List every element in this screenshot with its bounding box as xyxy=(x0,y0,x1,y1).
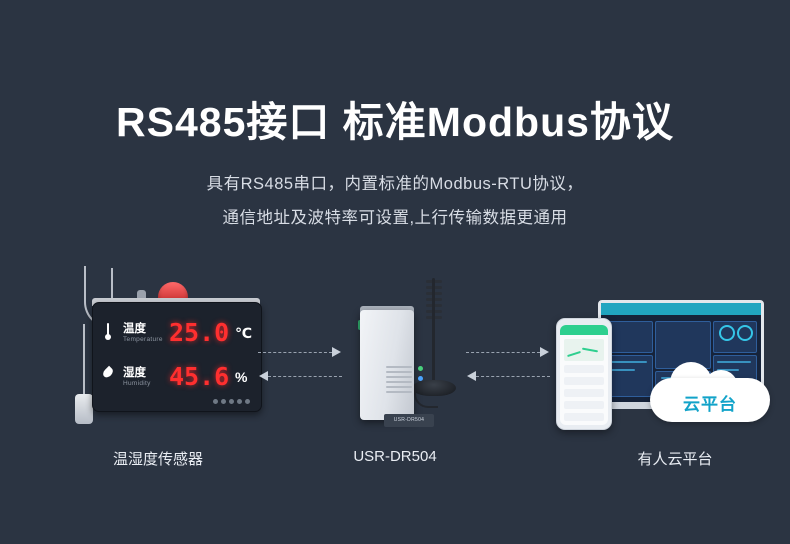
dashboard-gauge xyxy=(719,325,735,341)
subtitle-line-2: 通信地址及波特率可设置,上行传输数据更通用 xyxy=(0,204,790,228)
cloud-badge-text: 云平台 xyxy=(650,390,770,415)
arrow-left-right-pair xyxy=(467,371,476,381)
phone-list-item xyxy=(564,389,604,397)
temperature-label-en: Temperature xyxy=(123,336,163,343)
dtu-link-led xyxy=(418,376,423,381)
phone-list-item xyxy=(564,413,604,421)
antenna-rod xyxy=(432,278,435,382)
dashboard-trend-line xyxy=(611,369,635,371)
humidity-unit: % xyxy=(235,369,247,385)
water-drop-icon xyxy=(101,366,114,379)
dtu-front-label: USR-DR504 xyxy=(384,414,434,427)
dash-line-forward-left xyxy=(258,352,332,353)
usr-dr504-device: USR-DR504 xyxy=(338,276,473,436)
sensor-display-panel: 温度 Temperature 25.0 ℃ 湿度 Humidity 45.6 % xyxy=(92,302,262,412)
cloud-platform-badge: 云平台 xyxy=(650,360,770,422)
dtu-vent-grill xyxy=(386,366,412,402)
humidity-label-en: Humidity xyxy=(123,380,151,387)
phone-screen xyxy=(560,325,608,425)
phone-list-item xyxy=(564,365,604,373)
dash-line-forward-right xyxy=(466,352,540,353)
dash-line-reverse-right xyxy=(476,376,550,377)
dashboard-trend-line xyxy=(611,361,647,363)
phone-app-header xyxy=(560,325,608,335)
thermometer-icon xyxy=(105,323,111,345)
temperature-unit: ℃ xyxy=(235,325,252,342)
cloud-caption: 有人云平台 xyxy=(595,448,755,469)
phone-chart-card xyxy=(564,339,604,361)
phone-list-item xyxy=(564,377,604,385)
humidity-label: 湿度 Humidity xyxy=(123,364,151,387)
probe-cable xyxy=(83,324,85,396)
humidity-value: 45.6 xyxy=(169,362,229,391)
dash-line-reverse-left xyxy=(268,376,342,377)
temperature-label: 温度 Temperature xyxy=(123,320,163,343)
probe-sensor-tip xyxy=(75,394,93,424)
sensor-caption: 温湿度传感器 xyxy=(58,448,258,469)
status-led-dots xyxy=(213,391,257,398)
page-title: RS485接口 标准Modbus协议 xyxy=(0,88,790,148)
subtitle-line-1: 具有RS485串口，内置标准的Modbus-RTU协议， xyxy=(0,170,790,194)
arrow-right-right-pair xyxy=(540,347,549,357)
arrow-left-left-pair xyxy=(259,371,268,381)
temperature-humidity-sensor: 温度 Temperature 25.0 ℃ 湿度 Humidity 45.6 % xyxy=(62,268,262,433)
dashboard-header-bar xyxy=(601,303,761,315)
dashboard-gauge xyxy=(737,325,753,341)
antenna-cable xyxy=(414,388,438,408)
cloud-app-phone xyxy=(556,318,612,430)
dtu-power-led xyxy=(418,366,423,371)
poster-root: RS485接口 标准Modbus协议 具有RS485串口，内置标准的Modbus… xyxy=(0,0,790,544)
dtu-caption: USR-DR504 xyxy=(295,448,495,465)
temperature-value: 25.0 xyxy=(169,318,229,347)
dtu-housing: USR-DR504 xyxy=(360,310,414,420)
dashboard-card xyxy=(607,321,653,353)
phone-list-item xyxy=(564,401,604,409)
